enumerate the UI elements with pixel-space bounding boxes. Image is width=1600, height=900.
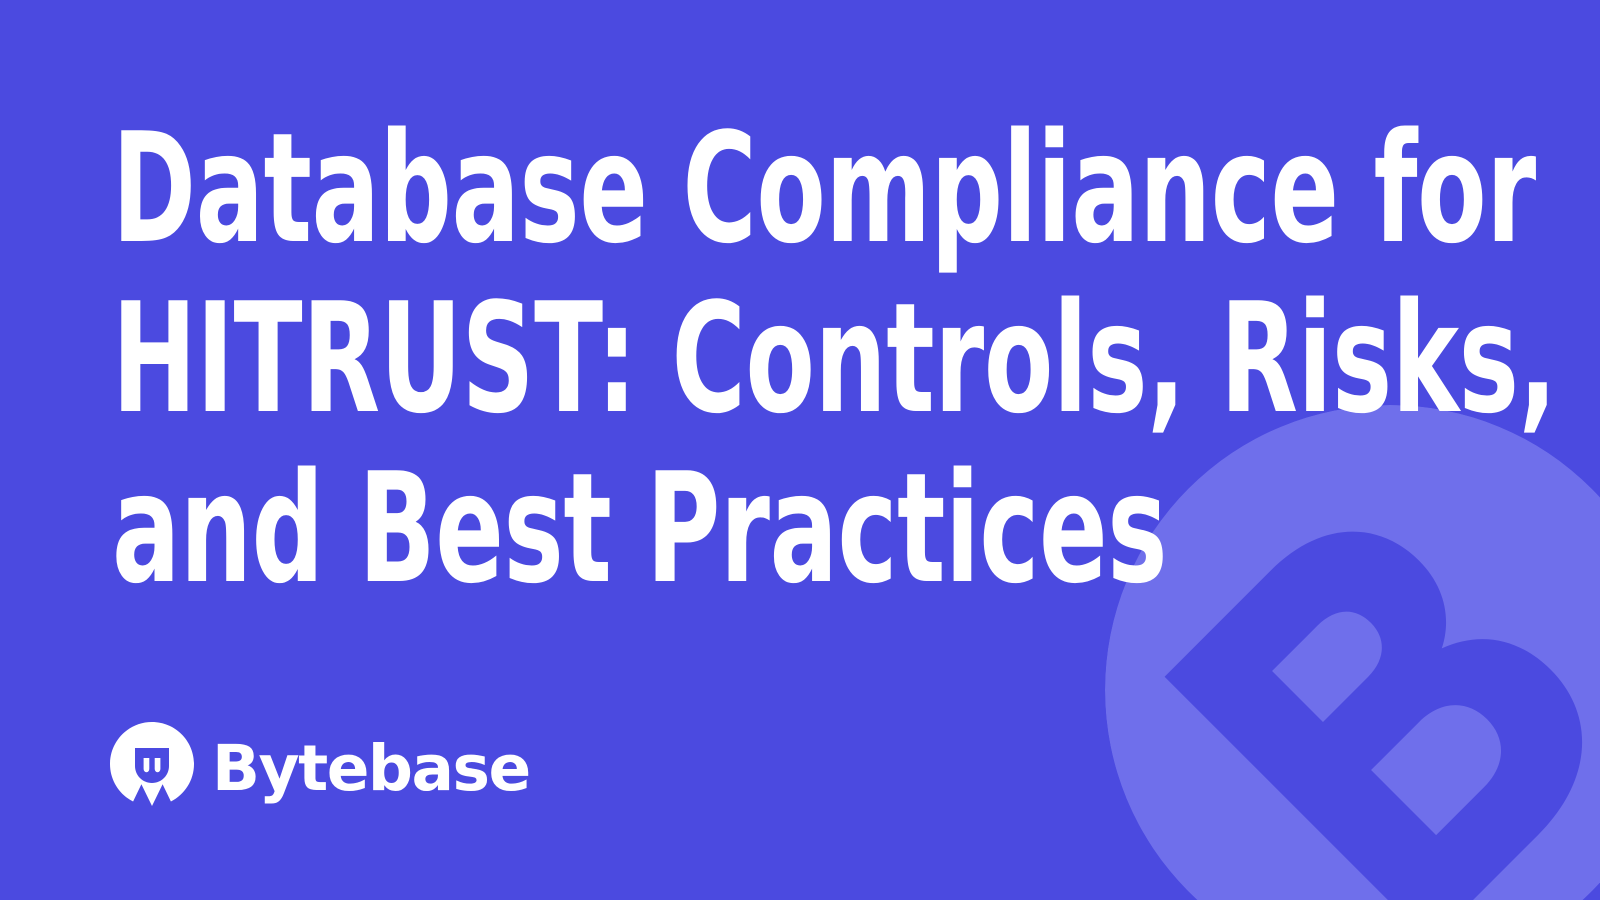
brand-wordmark: Bytebase <box>212 737 530 800</box>
bytebase-logo-icon <box>110 722 194 810</box>
headline-line-3: and Best Practices <box>112 444 1163 614</box>
page-title: Database Compliance for HITRUST: Control… <box>112 104 1532 614</box>
headline-line-1: Database Compliance for <box>112 104 1163 274</box>
headline-line-2: HITRUST: Controls, Risks, <box>112 274 1163 444</box>
cover-canvas: Database Compliance for HITRUST: Control… <box>0 0 1600 900</box>
brand-lockup: Bytebase <box>110 722 530 810</box>
